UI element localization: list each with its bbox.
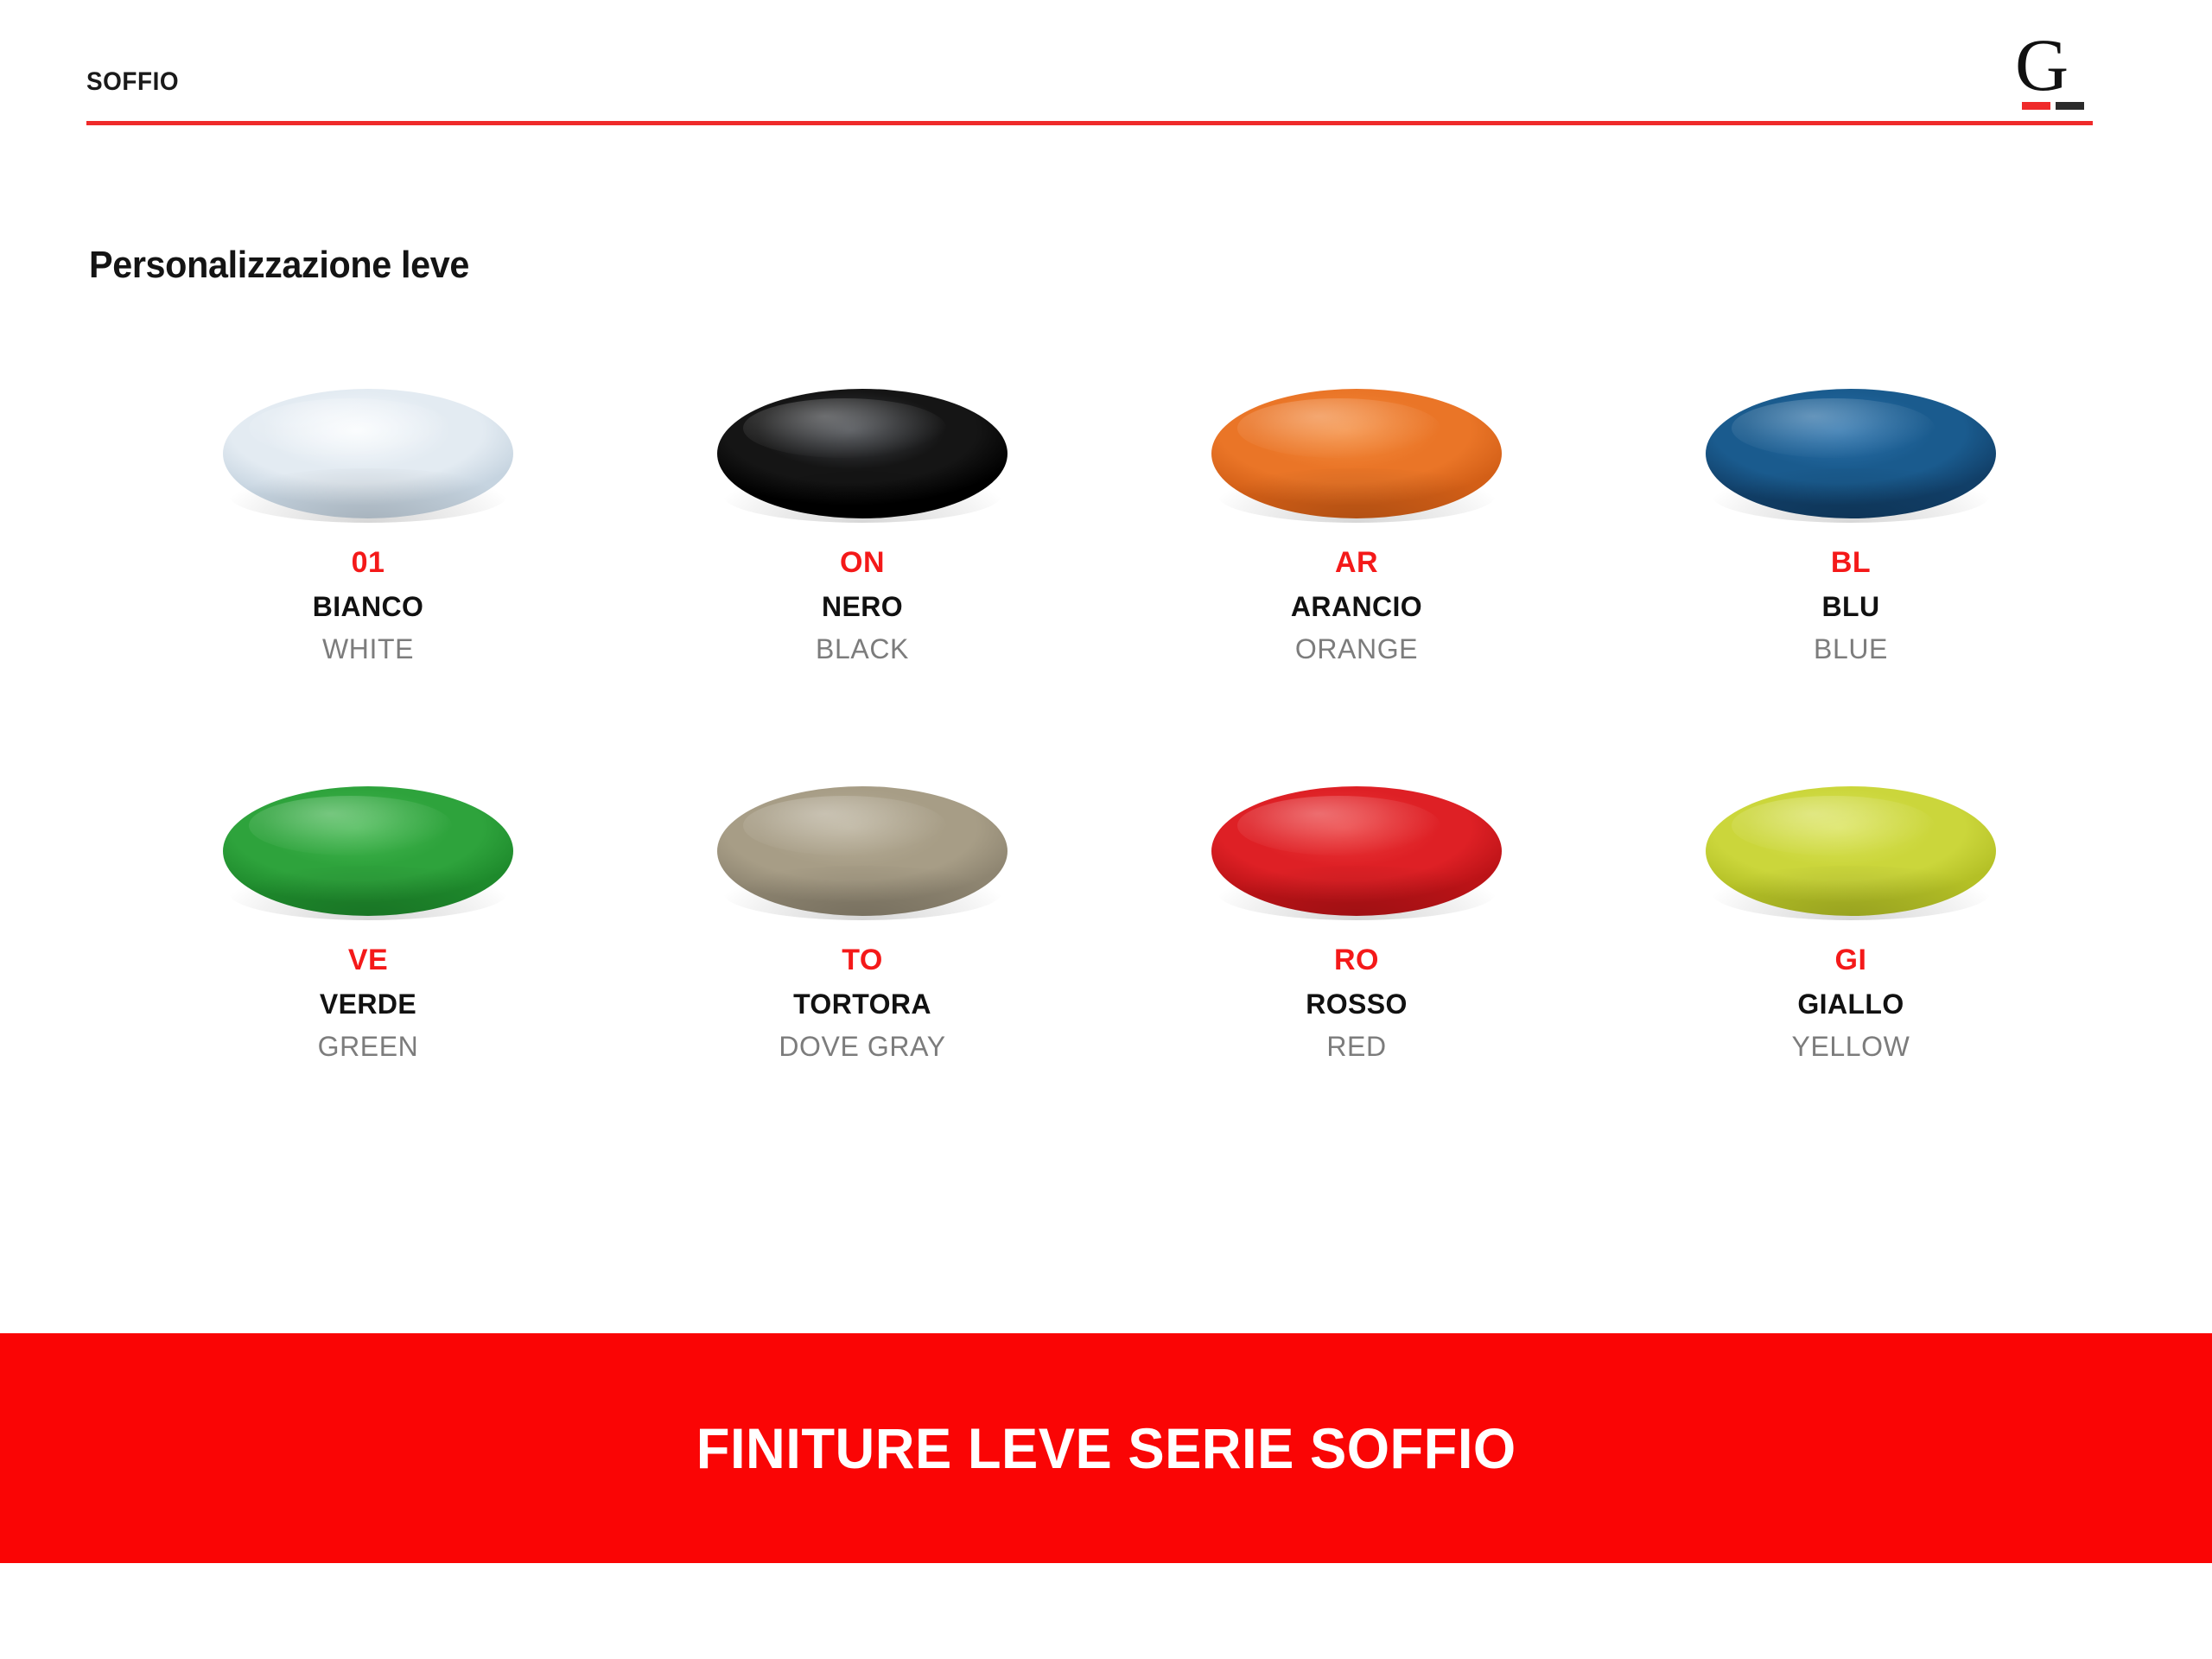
logo-black-dash-icon xyxy=(2056,102,2084,110)
swatch-name-it: VERDE xyxy=(320,990,416,1018)
swatch-disc-wrap xyxy=(1704,778,1998,925)
swatch-item-nero[interactable]: ON NERO BLACK xyxy=(615,380,1109,663)
swatch-disc-tortora[interactable] xyxy=(717,786,1007,916)
swatch-name-it: BLU xyxy=(1822,593,1880,620)
swatch-item-rosso[interactable]: RO ROSSO RED xyxy=(1109,778,1604,1060)
slide-root: SOFFIO G Personalizzazione leve 01 BIANC… xyxy=(0,0,2212,1659)
swatch-disc-wrap xyxy=(1704,380,1998,527)
swatch-row-1: 01 BIANCO WHITE ON NERO BLACK AR ARANCIO… xyxy=(121,380,2100,663)
swatch-disc-bianco[interactable] xyxy=(223,389,513,518)
swatch-code: TO xyxy=(842,945,883,975)
swatch-name-en: RED xyxy=(1326,1033,1386,1060)
header-title: SOFFIO xyxy=(86,67,179,97)
swatch-code: VE xyxy=(348,945,388,975)
swatch-name-en: ORANGE xyxy=(1295,635,1418,663)
logo-letter-g-icon: G xyxy=(2015,28,2068,102)
swatch-name-it: GIALLO xyxy=(1797,990,1904,1018)
swatch-item-tortora[interactable]: TO TORTORA DOVE GRAY xyxy=(615,778,1109,1060)
swatch-item-arancio[interactable]: AR ARANCIO ORANGE xyxy=(1109,380,1604,663)
swatch-disc-wrap xyxy=(715,380,1009,527)
brand-logo: G xyxy=(2015,35,2093,118)
section-title: Personalizzazione leve xyxy=(89,244,469,287)
swatch-name-it: BIANCO xyxy=(313,593,424,620)
swatch-code: AR xyxy=(1335,548,1378,577)
swatch-name-en: YELLOW xyxy=(1792,1033,1910,1060)
swatch-disc-wrap xyxy=(221,380,515,527)
swatch-name-it: ROSSO xyxy=(1306,990,1408,1018)
swatch-disc-wrap xyxy=(1210,380,1503,527)
swatch-disc-wrap xyxy=(1210,778,1503,925)
swatch-code: BL xyxy=(1831,548,1871,577)
swatch-disc-verde[interactable] xyxy=(223,786,513,916)
swatch-disc-wrap xyxy=(715,778,1009,925)
swatch-disc-wrap xyxy=(221,778,515,925)
header-red-rule xyxy=(86,121,2093,125)
logo-red-dash-icon xyxy=(2022,102,2050,110)
swatch-code: 01 xyxy=(352,548,385,577)
swatch-disc-rosso[interactable] xyxy=(1211,786,1502,916)
finish-swatch-grid: 01 BIANCO WHITE ON NERO BLACK AR ARANCIO… xyxy=(121,380,2100,1060)
swatch-disc-arancio[interactable] xyxy=(1211,389,1502,518)
footer-banner-text: FINITURE LEVE SERIE SOFFIO xyxy=(696,1415,1516,1481)
swatch-disc-blu[interactable] xyxy=(1706,389,1996,518)
swatch-name-en: BLACK xyxy=(816,635,909,663)
swatch-item-giallo[interactable]: GI GIALLO YELLOW xyxy=(1604,778,2098,1060)
swatch-name-it: TORTORA xyxy=(793,990,931,1018)
swatch-name-en: WHITE xyxy=(322,635,414,663)
swatch-name-it: ARANCIO xyxy=(1291,593,1422,620)
swatch-item-blu[interactable]: BL BLU BLUE xyxy=(1604,380,2098,663)
swatch-row-2: VE VERDE GREEN TO TORTORA DOVE GRAY RO R… xyxy=(121,778,2100,1060)
header: SOFFIO G xyxy=(0,0,2212,138)
swatch-disc-giallo[interactable] xyxy=(1706,786,1996,916)
swatch-item-bianco[interactable]: 01 BIANCO WHITE xyxy=(121,380,615,663)
swatch-name-en: DOVE GRAY xyxy=(779,1033,945,1060)
swatch-name-en: BLUE xyxy=(1814,635,1888,663)
footer-banner: FINITURE LEVE SERIE SOFFIO xyxy=(0,1333,2212,1563)
swatch-code: RO xyxy=(1334,945,1379,975)
swatch-code: ON xyxy=(840,548,885,577)
swatch-code: GI xyxy=(1835,945,1867,975)
swatch-item-verde[interactable]: VE VERDE GREEN xyxy=(121,778,615,1060)
swatch-name-it: NERO xyxy=(822,593,903,620)
swatch-name-en: GREEN xyxy=(318,1033,419,1060)
swatch-disc-nero[interactable] xyxy=(717,389,1007,518)
